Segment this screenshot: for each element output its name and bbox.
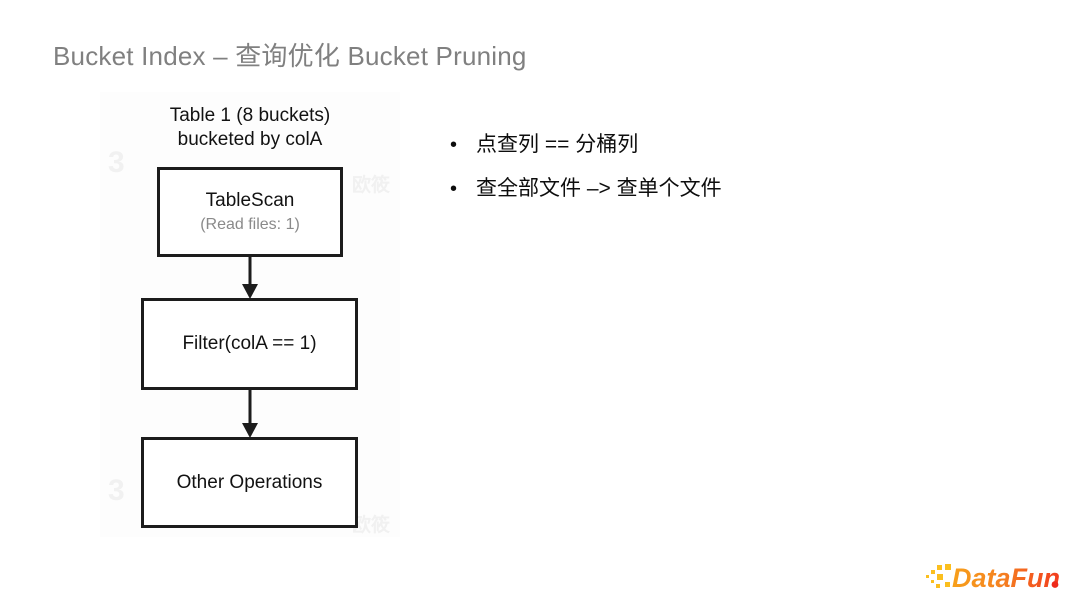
arrow-filter-to-other — [238, 388, 262, 439]
bullet-marker-icon: • — [450, 174, 476, 204]
bullet-list: • 点查列 == 分桶列 • 查全部文件 –> 查单个文件 — [450, 130, 970, 218]
page-title: Bucket Index – 查询优化 Bucket Pruning — [53, 36, 527, 73]
bullet-marker-icon: • — [450, 130, 476, 160]
bullet-text: 查全部文件 –> 查单个文件 — [476, 174, 722, 204]
datafun-logo: DataFun — [925, 560, 1060, 596]
node-title: Filter(colA == 1) — [182, 333, 316, 355]
diagram-figure: 3 欧筱 0093 欧筱 3 欧筱 Table 1 (8 buckets) bu… — [100, 92, 400, 537]
bullet-text: 点查列 == 分桶列 — [476, 130, 638, 160]
figure-caption-line-1: Table 1 (8 buckets) — [100, 104, 400, 128]
list-item: • 查全部文件 –> 查单个文件 — [450, 174, 970, 204]
node-title: TableScan — [206, 189, 295, 213]
watermark: 欧筱 — [352, 170, 390, 197]
arrow-tablescan-to-filter — [238, 255, 262, 300]
watermark: 3 — [108, 474, 125, 508]
diagram-node-filter: Filter(colA == 1) — [141, 298, 358, 390]
list-item: • 点查列 == 分桶列 — [450, 130, 970, 160]
figure-caption: Table 1 (8 buckets) bucketed by colA — [100, 104, 400, 152]
datafun-logo-icon: DataFun — [925, 561, 1060, 595]
node-title: Other Operations — [177, 472, 323, 494]
diagram-node-other-operations: Other Operations — [141, 437, 358, 528]
node-subtitle: (Read files: 1) — [200, 214, 300, 236]
figure-caption-line-2: bucketed by colA — [100, 128, 400, 152]
svg-text:DataFun: DataFun — [952, 563, 1060, 593]
diagram-node-tablescan: TableScan (Read files: 1) — [157, 167, 343, 257]
